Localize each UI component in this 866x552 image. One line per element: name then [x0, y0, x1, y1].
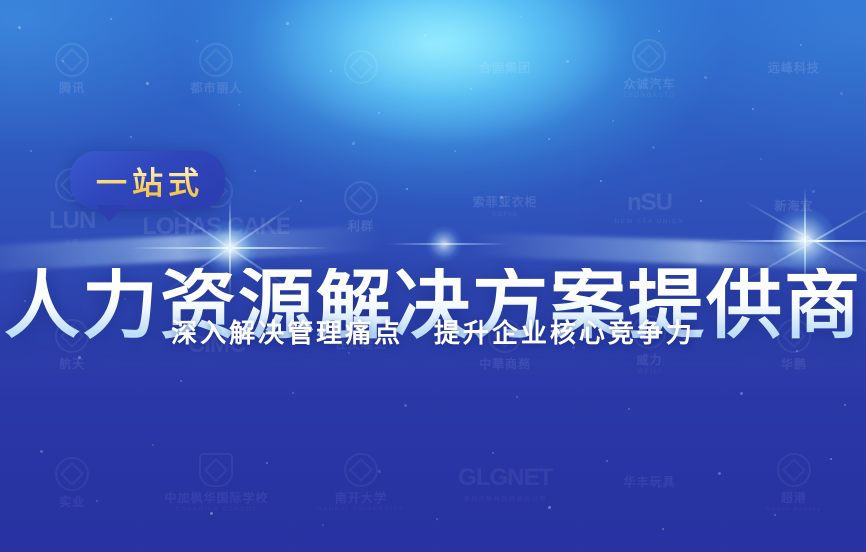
banner-subtitle: 深入解决管理痛点 提升企业核心竞争力 [0, 313, 866, 350]
one-stop-badge-label: 一站式 [91, 158, 204, 203]
promotional-banner: 腾讯都市丽人合固集团众诚汽车ZHONGAUTO远峰科技LUN山田LOHAS CA… [0, 0, 866, 552]
banner-content: 一站式 人力资源解决方案提供商 深入解决管理痛点 提升企业核心竞争力 [0, 0, 866, 552]
one-stop-badge: 一站式 [70, 151, 225, 209]
